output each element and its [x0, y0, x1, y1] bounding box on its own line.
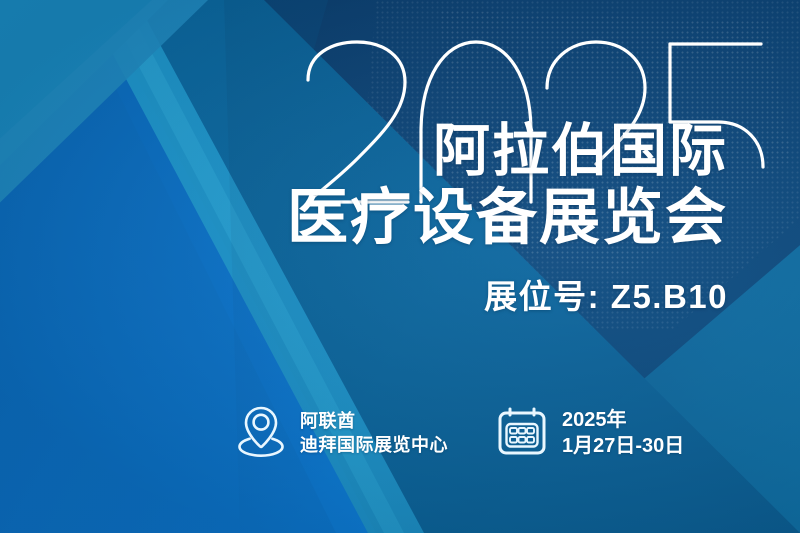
date-text: 2025年 1月27日-30日 — [562, 408, 684, 459]
booth-number: 展位号: Z5.B10 — [287, 270, 728, 318]
venue-info: 阿联酋 迪拜国际展览中心 — [236, 404, 448, 463]
footer-info-row: 阿联酋 迪拜国际展览中心 2025年 1 — [236, 404, 684, 463]
date-year: 2025年 — [562, 408, 684, 434]
event-poster: 阿拉伯国际 医疗设备展览会 展位号: Z5.B10 阿联酋 迪拜国际展览中心 — [0, 0, 800, 533]
venue-text: 阿联酋 迪拜国际展览中心 — [300, 410, 448, 456]
calendar-icon — [496, 405, 548, 462]
date-range: 1月27日-30日 — [562, 434, 684, 460]
venue-country: 阿联酋 — [300, 410, 448, 433]
page-title-line2: 医疗设备展览会 — [287, 186, 728, 248]
venue-name: 迪拜国际展览中心 — [300, 434, 448, 457]
date-info: 2025年 1月27日-30日 — [496, 405, 684, 462]
location-pin-icon — [236, 404, 286, 463]
page-title-line1: 阿拉伯国际 — [287, 122, 728, 180]
headline-block: 阿拉伯国际 医疗设备展览会 展位号: Z5.B10 — [287, 122, 728, 318]
